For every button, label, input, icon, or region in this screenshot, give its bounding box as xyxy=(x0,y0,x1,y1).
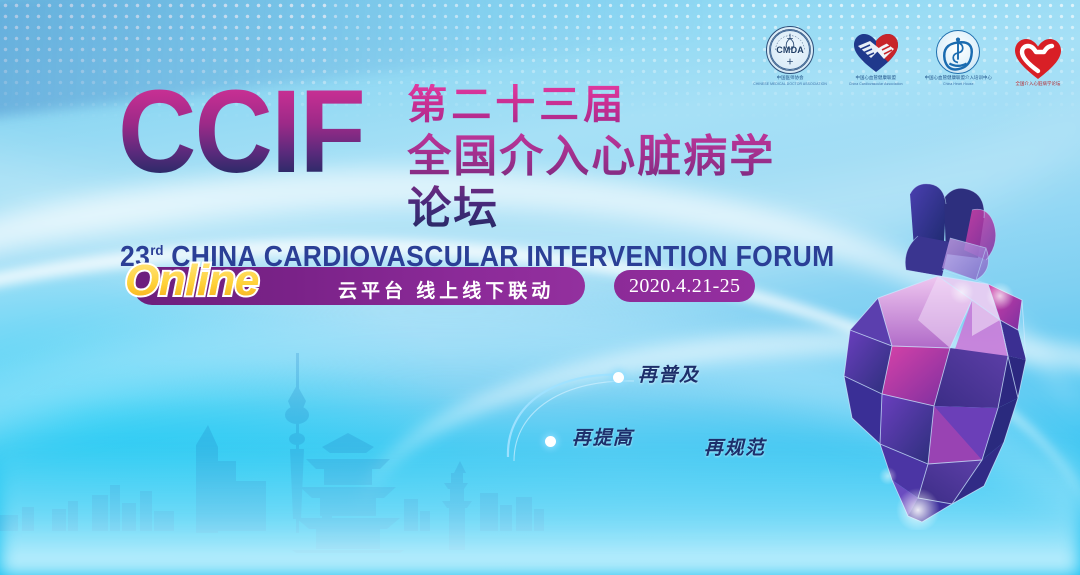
slogan-1: 再普及 xyxy=(638,360,700,387)
handshake-heart-icon xyxy=(852,32,900,74)
slogan-2: 再提高 xyxy=(572,423,634,450)
ccif-red-heart-logo: 全国介入心脏病学论坛 xyxy=(1014,38,1062,87)
institute-caption-cn: 中国心血管健康联盟介入培训中心 xyxy=(925,75,992,81)
slogan-node-dot-1 xyxy=(613,372,624,383)
institute-caption-en: China Heart House xyxy=(943,82,974,87)
headline-row: CCIF 第二十三届 全国介入心脏病学论坛 xyxy=(118,78,818,235)
forum-name-cn: 全国介入心脏病学论坛 xyxy=(407,131,818,235)
cardiovascular-institute-logo: 中国心血管健康联盟介入培训中心 China Heart House xyxy=(925,30,992,87)
slogan-node-dot-2 xyxy=(545,436,556,447)
online-label: Online xyxy=(125,259,259,303)
red-heart-caption-cn: 全国介入心脏病学论坛 xyxy=(1016,81,1061,87)
chinese-title-column: 第二十三届 全国介入心脏病学论坛 xyxy=(407,84,818,235)
ccif-conference-poster: CMDA 中国医师协会 CHINESE MEDICAL DOCTOR ASSOC… xyxy=(0,0,1080,575)
slogan-3: 再规范 xyxy=(704,433,766,460)
online-subtitle: 云平台 线上线下联动 xyxy=(338,276,554,303)
cmda-seal-icon: CMDA xyxy=(766,26,814,74)
handshake-heart-caption-cn: 中国心血管健康联盟 xyxy=(856,75,896,81)
handshake-heart-caption-en: China Cardiovascular Association xyxy=(849,82,903,87)
ccif-wordmark: CCIF xyxy=(118,78,364,187)
title-block: CCIF 第二十三届 全国介入心脏病学论坛 23rd CHINA CARDIOV… xyxy=(118,78,818,274)
online-banner-bar: Online Online 云平台 线上线下联动 xyxy=(133,267,585,305)
date-range-text: 2020.4.21-25 xyxy=(629,275,740,298)
slogan-group: 再普及 再提高 再规范 xyxy=(500,345,830,465)
red-heart-icon xyxy=(1014,38,1062,80)
cardiovascular-handshake-heart-logo: 中国心血管健康联盟 China Cardiovascular Associati… xyxy=(849,32,903,87)
date-badge: 2020.4.21-25 xyxy=(614,270,755,302)
caduceus-circle-icon xyxy=(936,30,980,74)
edition-label-cn: 第二十三届 xyxy=(407,84,818,127)
low-poly-heart-illustration xyxy=(822,180,1072,530)
cmda-seal-ring xyxy=(767,27,813,73)
